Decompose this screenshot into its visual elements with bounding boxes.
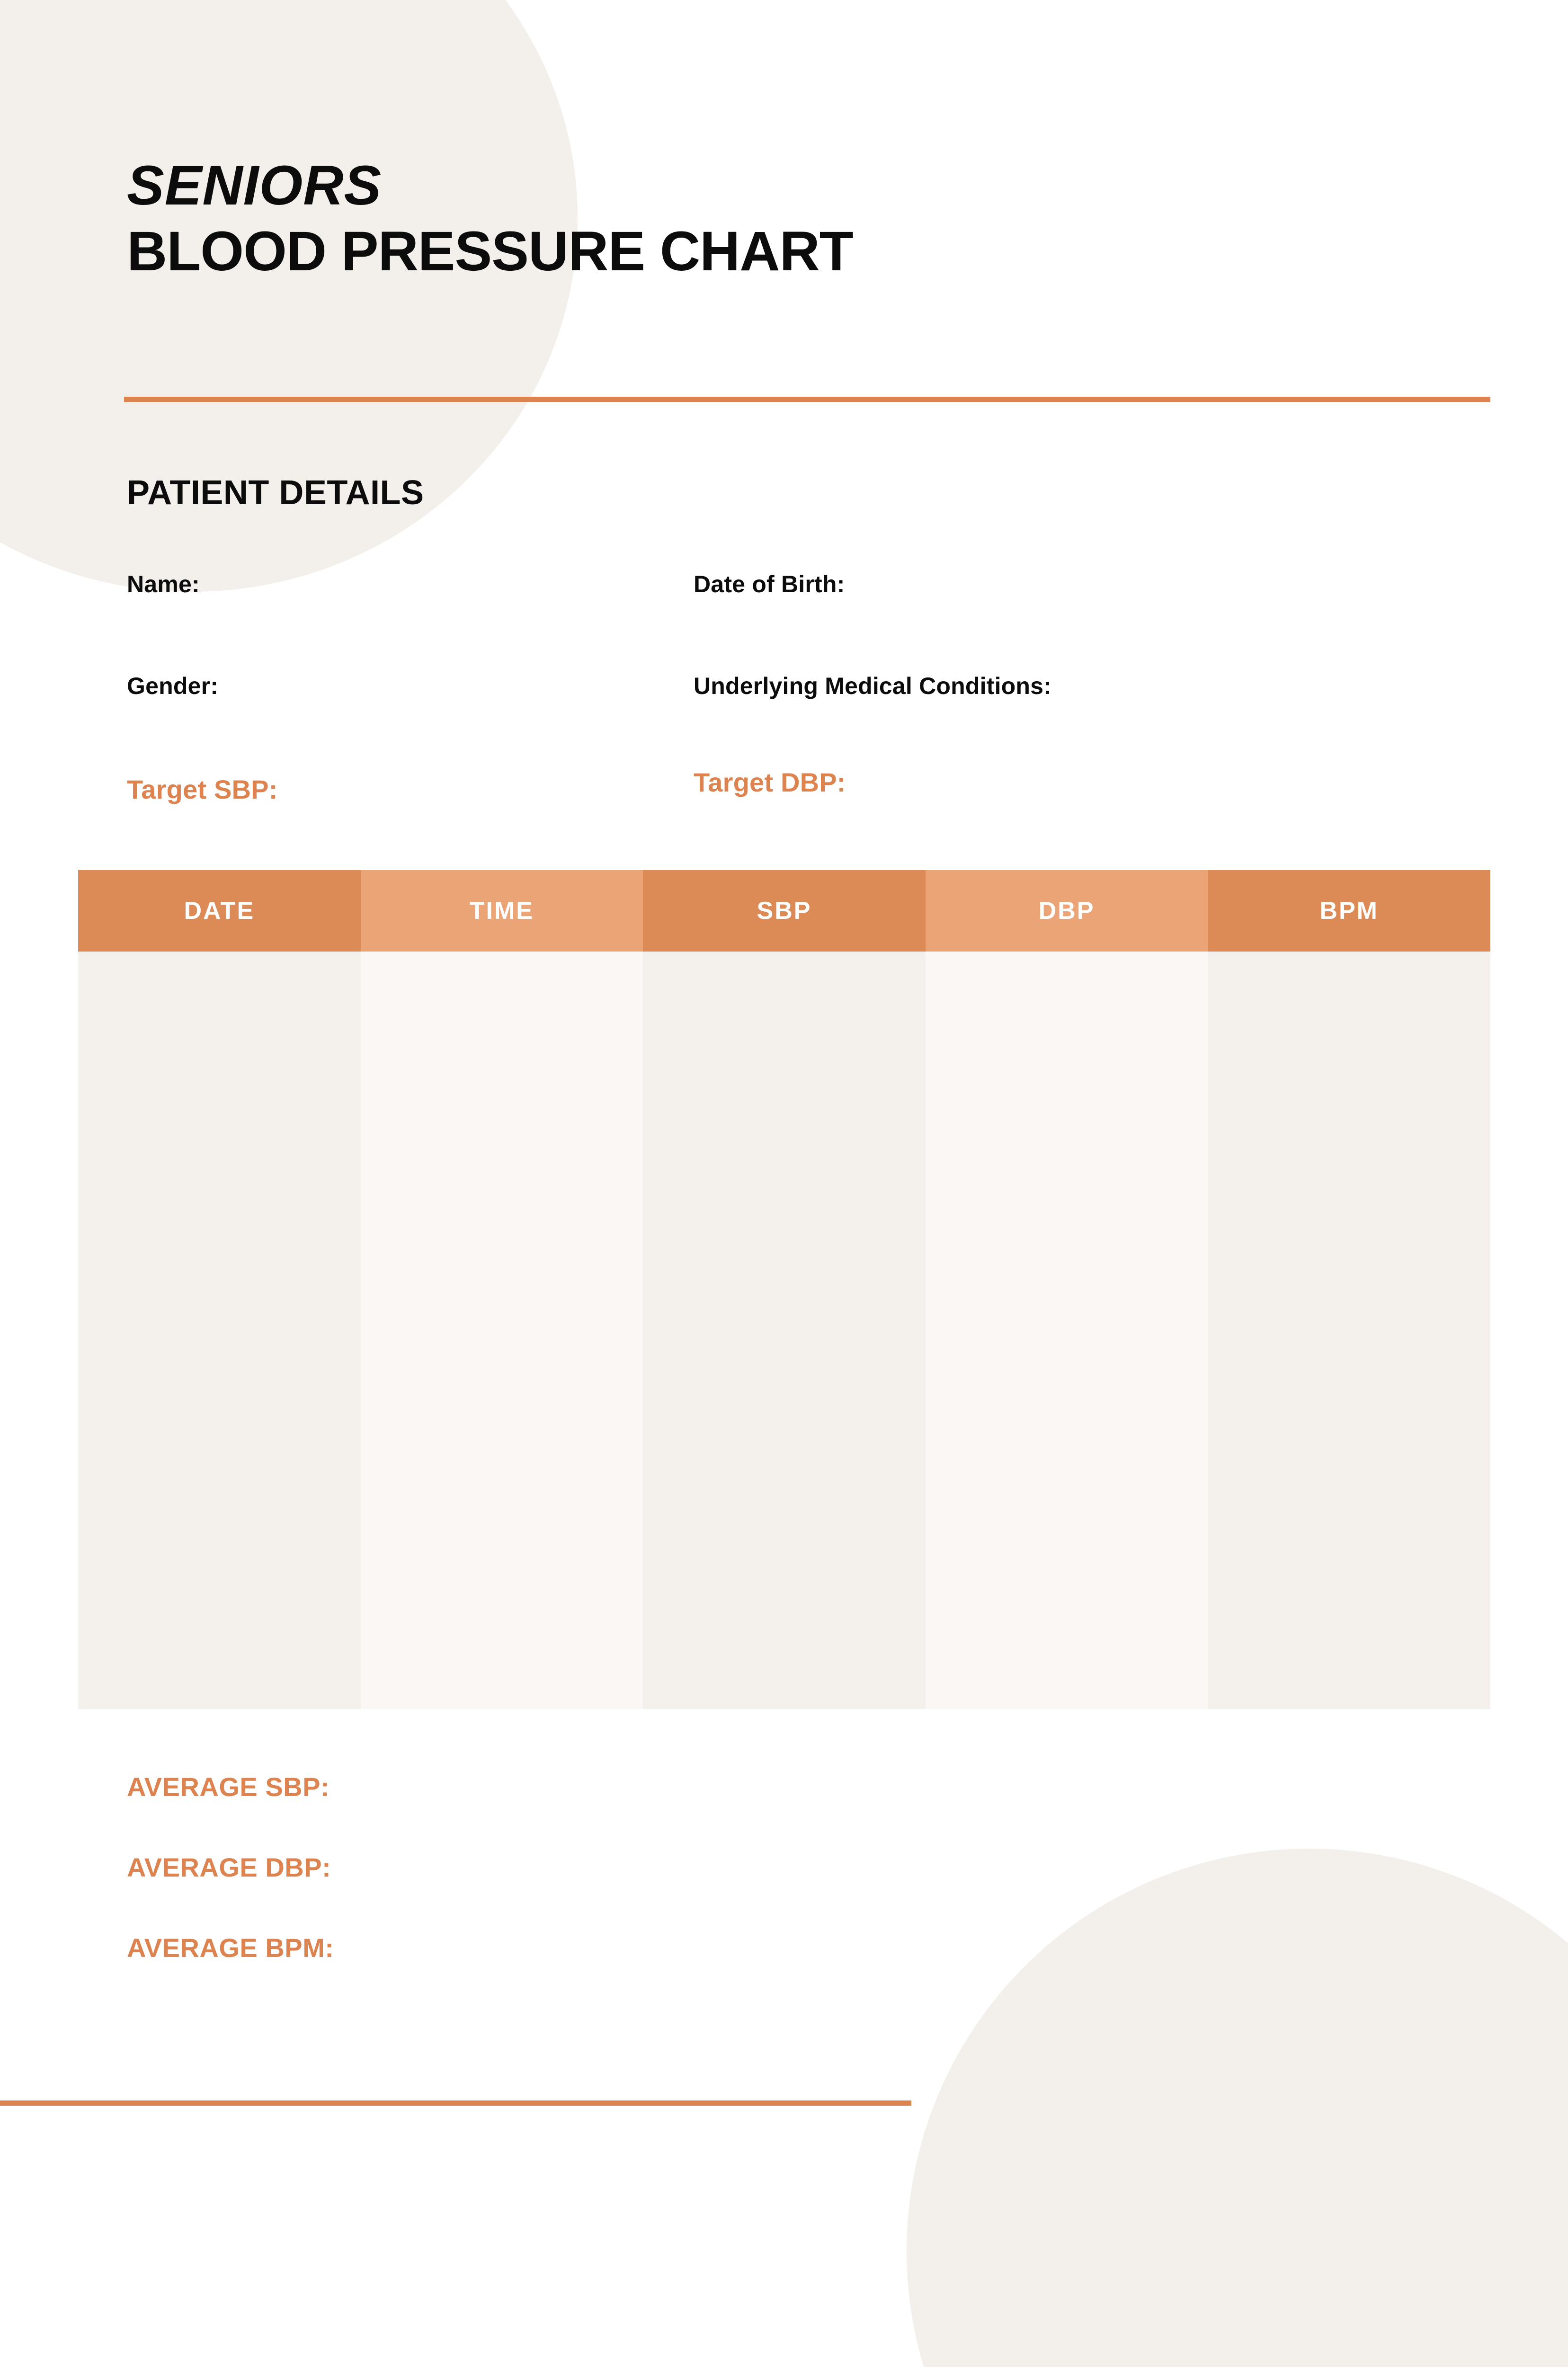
table-body-date[interactable] [78,952,361,1709]
page-title: SENIORS BLOOD PRESSURE CHART [127,156,1358,283]
table-header-sbp: SBP [643,870,926,952]
section-heading-patient-details: PATIENT DETAILS [127,473,424,512]
field-label-date-of-birth: Date of Birth: [694,570,845,598]
table-body-bpm[interactable] [1208,952,1490,1709]
field-label-name: Name: [127,570,200,598]
field-label-target-dbp: Target DBP: [694,767,846,798]
divider-top [124,397,1490,402]
table-column-bpm[interactable]: BPM [1208,870,1490,1709]
table-column-time[interactable]: TIME [361,870,643,1709]
summary-label-average-sbp: AVERAGE SBP: [127,1771,330,1802]
table-header-bpm: BPM [1208,870,1490,952]
table-body-dbp[interactable] [926,952,1208,1709]
table-header-date: DATE [78,870,361,952]
table-header-dbp: DBP [926,870,1208,952]
page-content: SENIORS BLOOD PRESSURE CHART PATIENT DET… [0,0,1568,2215]
field-label-underlying-medical-conditions: Underlying Medical Conditions: [694,672,1051,700]
table-column-sbp[interactable]: SBP [643,870,926,1709]
table-body-time[interactable] [361,952,643,1709]
table-column-dbp[interactable]: DBP [926,870,1208,1709]
blood-pressure-log-table[interactable]: DATE TIME SBP DBP BPM [78,870,1490,1709]
summary-label-average-bpm: AVERAGE BPM: [127,1932,334,1963]
title-line-seniors: SENIORS [127,156,1358,215]
table-column-date[interactable]: DATE [78,870,361,1709]
field-label-gender: Gender: [127,672,218,700]
title-line-main: BLOOD PRESSURE CHART [127,220,1358,283]
field-label-target-sbp: Target SBP: [127,774,278,805]
table-body-sbp[interactable] [643,952,926,1709]
table-header-time: TIME [361,870,643,952]
summary-label-average-dbp: AVERAGE DBP: [127,1852,331,1883]
